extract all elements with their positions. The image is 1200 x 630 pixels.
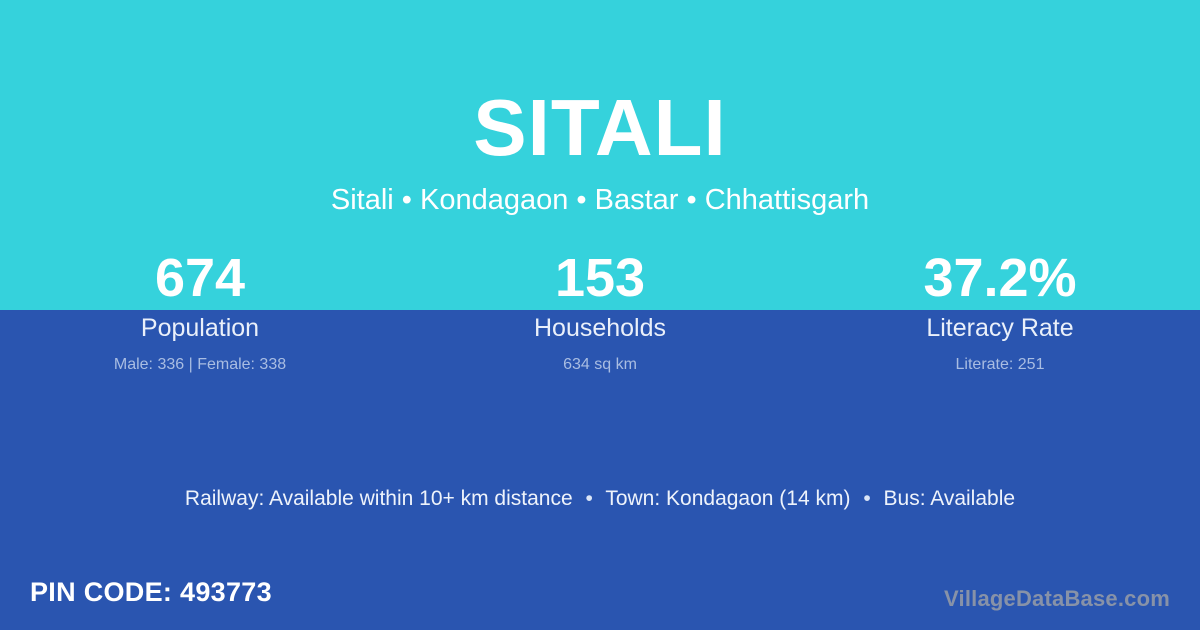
amenity-town: Town: Kondagaon (14 km) [605, 487, 850, 510]
brand-watermark: VillageDataBase.com [944, 584, 1170, 614]
stat-sublabel: Literate: 251 [800, 354, 1200, 376]
stat-population: 674 Population Male: 336 | Female: 338 [0, 246, 400, 376]
pin-code: PIN CODE: 493773 [30, 575, 272, 609]
stat-label: Literacy Rate [800, 312, 1200, 344]
stat-label: Population [0, 312, 400, 344]
stat-sublabel: 634 sq km [400, 354, 800, 376]
amenity-railway: Railway: Available within 10+ km distanc… [185, 487, 573, 510]
bullet-separator-icon: • [579, 484, 600, 514]
stat-label: Households [400, 312, 800, 344]
amenities-line: Railway: Available within 10+ km distanc… [0, 484, 1200, 514]
stat-households: 153 Households 634 sq km [400, 246, 800, 376]
breadcrumb: Sitali • Kondagaon • Bastar • Chhattisga… [0, 182, 1200, 218]
page-title: SITALI [0, 82, 1200, 174]
village-info-card: SITALI Sitali • Kondagaon • Bastar • Chh… [0, 0, 1200, 630]
stat-value: 674 [0, 246, 400, 310]
stat-literacy-rate: 37.2% Literacy Rate Literate: 251 [800, 246, 1200, 376]
stat-sublabel: Male: 336 | Female: 338 [0, 354, 400, 376]
amenity-bus: Bus: Available [884, 487, 1016, 510]
bullet-separator-icon: • [856, 484, 877, 514]
stat-value: 37.2% [800, 246, 1200, 310]
stats-row: 674 Population Male: 336 | Female: 338 1… [0, 246, 1200, 376]
stat-value: 153 [400, 246, 800, 310]
